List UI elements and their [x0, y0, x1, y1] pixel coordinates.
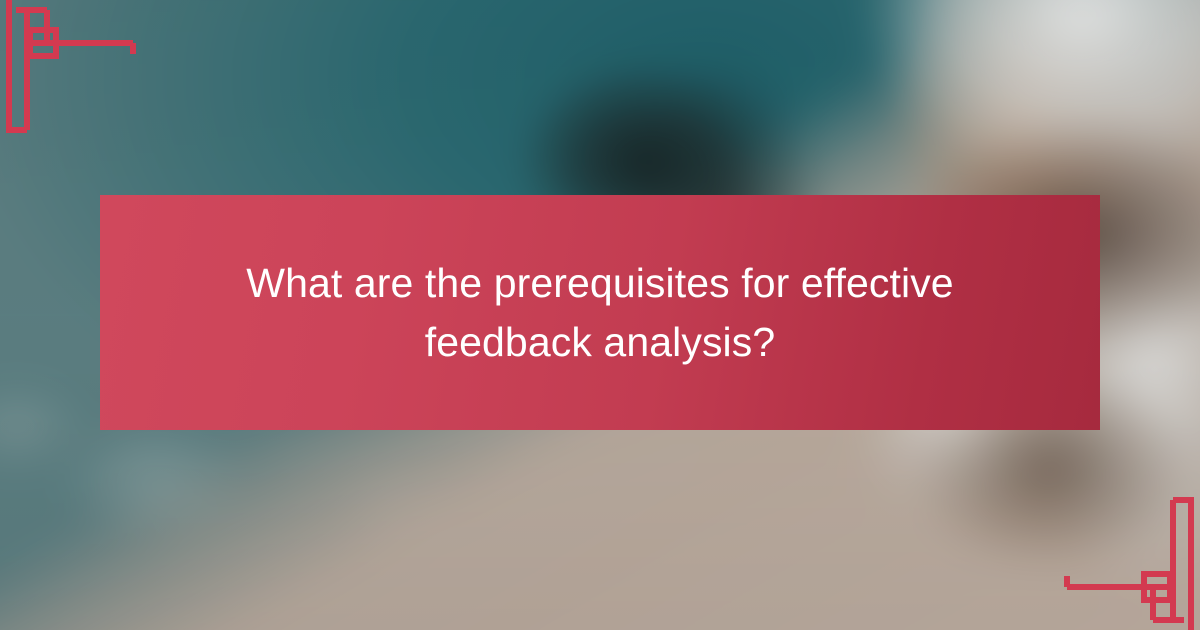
page-title: What are the prerequisites for effective… [220, 254, 980, 370]
corner-ornament-top-left [0, 0, 142, 142]
corner-ornament-bottom-right [1058, 488, 1200, 630]
social-card: What are the prerequisites for effective… [0, 0, 1200, 630]
title-banner: What are the prerequisites for effective… [100, 195, 1100, 430]
